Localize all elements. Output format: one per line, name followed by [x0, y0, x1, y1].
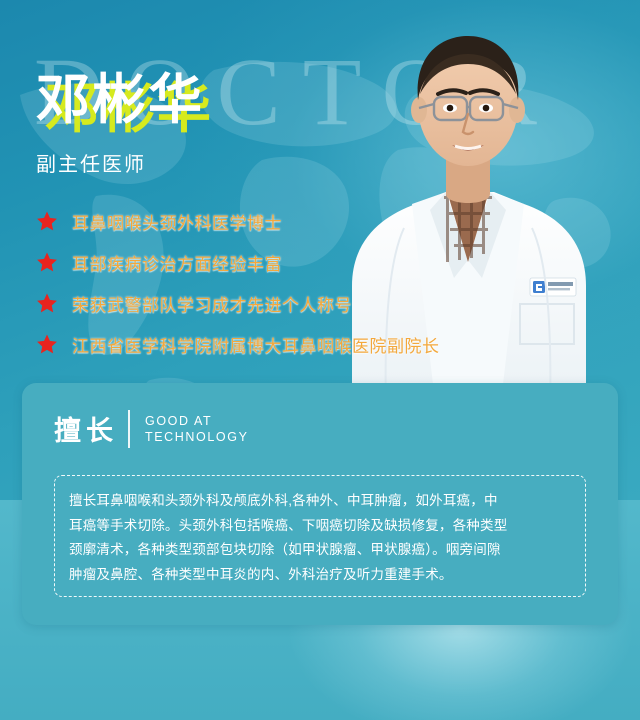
header-divider	[128, 410, 130, 448]
specialty-card: 擅长 GOOD AT TECHNOLOGY 擅长耳鼻咽喉和头颈外科及颅底外科,各…	[22, 383, 618, 625]
name-stack: 邓彬华 邓彬华	[36, 68, 146, 134]
description-line: 擅长耳鼻咽喉和头颈外科及颅底外科,各种外、中耳肿瘤，如外耳癌，中	[69, 489, 571, 514]
specialty-heading-en-line2: TECHNOLOGY	[145, 429, 249, 445]
description-line: 耳癌等手术切除。头颈外科包括喉癌、下咽癌切除及缺损修复，各种类型	[69, 514, 571, 539]
list-item: 荣获武警部队学习成才先进个人称号	[36, 286, 440, 320]
credential-text: 耳部疾病诊治方面经验丰富	[72, 250, 282, 275]
star-icon	[36, 251, 58, 273]
credential-text: 荣获武警部队学习成才先进个人称号	[72, 291, 352, 316]
doctor-profile-card: DOCTOR	[0, 0, 640, 720]
star-icon	[36, 210, 58, 232]
credential-text: 江西省医学科学院附属博大耳鼻咽喉医院副院长	[72, 332, 440, 357]
credential-text: 耳鼻咽喉头颈外科医学博士	[72, 209, 282, 234]
description-line: 肿瘤及鼻腔、各种类型中耳炎的内、外科治疗及听力重建手术。	[69, 563, 571, 588]
doctor-name-block: 邓彬华 邓彬华 副主任医师	[36, 68, 146, 177]
star-icon	[36, 333, 58, 355]
list-item: 耳鼻咽喉头颈外科医学博士	[36, 204, 440, 238]
specialty-description-box: 擅长耳鼻咽喉和头颈外科及颅底外科,各种外、中耳肿瘤，如外耳癌，中 耳癌等手术切除…	[54, 475, 586, 597]
specialty-heading-en-line1: GOOD AT	[145, 413, 249, 429]
star-icon	[36, 292, 58, 314]
doctor-job-title: 副主任医师	[36, 148, 146, 177]
doctor-name: 邓彬华	[36, 68, 204, 132]
specialty-heading-cn: 擅长	[54, 409, 118, 448]
list-item: 耳部疾病诊治方面经验丰富	[36, 245, 440, 279]
specialty-heading-en: GOOD AT TECHNOLOGY	[145, 413, 249, 445]
credential-list: 耳鼻咽喉头颈外科医学博士 耳部疾病诊治方面经验丰富 荣获武警部队学习成才先进个人…	[36, 204, 440, 368]
description-line: 颈廓清术，各种类型颈部包块切除（如甲状腺瘤、甲状腺癌）。咽旁间隙	[69, 538, 571, 563]
list-item: 江西省医学科学院附属博大耳鼻咽喉医院副院长	[36, 327, 440, 361]
specialty-card-header: 擅长 GOOD AT TECHNOLOGY	[22, 383, 618, 448]
